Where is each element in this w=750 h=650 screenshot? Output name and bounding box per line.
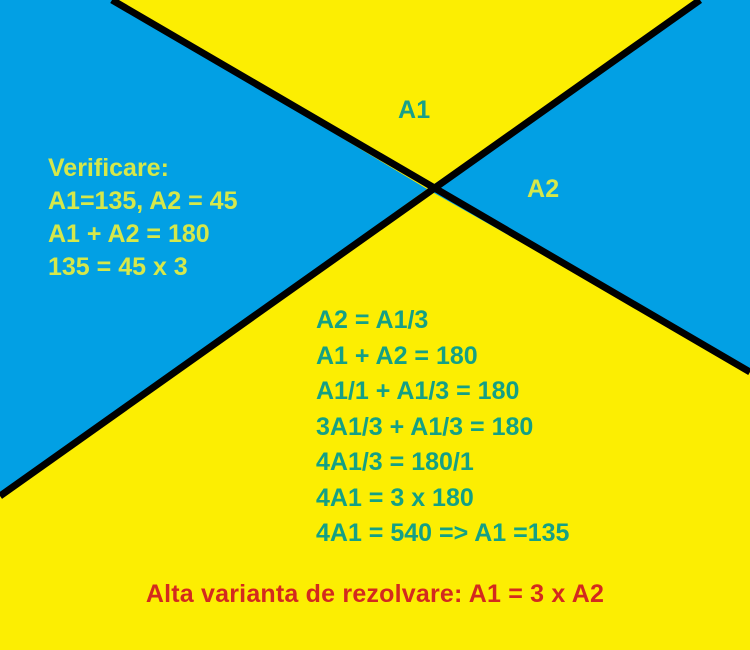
alternative-solution-caption: Alta varianta de rezolvare: A1 = 3 x A2 [0, 580, 750, 609]
verification-line-0: Verificare: [48, 152, 238, 185]
verification-line-2: A1 + A2 = 180 [48, 218, 238, 251]
equation-line-4: 4A1/3 = 180/1 [316, 445, 569, 481]
equation-line-1: A1 + A2 = 180 [316, 339, 569, 375]
equation-line-6: 4A1 = 540 => A1 =135 [316, 516, 569, 552]
verification-line-1: A1=135, A2 = 45 [48, 185, 238, 218]
equation-line-0: A2 = A1/3 [316, 303, 569, 339]
equation-line-5: 4A1 = 3 x 180 [316, 481, 569, 517]
verification-text-block: Verificare: A1=135, A2 = 45 A1 + A2 = 18… [48, 152, 238, 284]
diagram-canvas: A1 A2 Verificare: A1=135, A2 = 45 A1 + A… [0, 0, 750, 650]
equation-line-2: A1/1 + A1/3 = 180 [316, 374, 569, 410]
verification-line-3: 135 = 45 x 3 [48, 251, 238, 284]
angle-label-a2: A2 [527, 175, 559, 204]
angle-label-a1: A1 [398, 96, 430, 125]
equation-line-3: 3A1/3 + A1/3 = 180 [316, 410, 569, 446]
equations-text-block: A2 = A1/3 A1 + A2 = 180 A1/1 + A1/3 = 18… [316, 303, 569, 552]
